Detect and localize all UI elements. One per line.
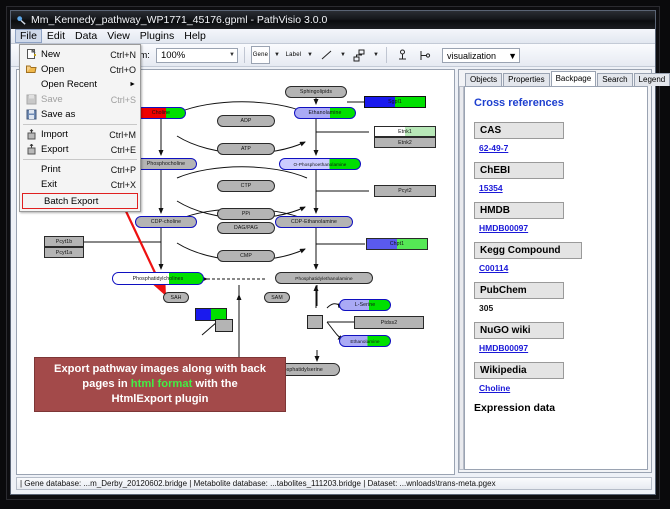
menu-item-exit[interactable]: Exit Ctrl+X <box>20 177 140 192</box>
menu-item-new[interactable]: New Ctrl+N <box>20 47 140 62</box>
annotation-line-2a: pages in <box>82 378 131 390</box>
annotation-highlight: html format <box>131 378 193 390</box>
pathvisio-icon <box>16 15 27 26</box>
menu-item-print-accel: Ctrl+P <box>111 165 136 175</box>
menu-view[interactable]: View <box>102 29 135 43</box>
annotation-line-2b: with the <box>192 378 237 390</box>
xref-value-kegg[interactable]: C00114 <box>479 263 638 273</box>
menu-item-import-label: Import <box>41 129 103 140</box>
blank-icon-2 <box>24 164 38 176</box>
gene-pcyt1a[interactable]: Pcyt1a <box>44 247 84 258</box>
node-ethanolamine[interactable]: Ethanolamine <box>294 107 356 119</box>
backpage-content: Cross references CAS 62-49-7 ChEBI 15354… <box>464 86 648 470</box>
gene-etnk2[interactable]: Etnk2 <box>374 137 436 148</box>
gene-product-tool-icon[interactable]: Gene <box>251 46 270 64</box>
node-dag-pag[interactable]: DAG/PAG <box>217 222 275 234</box>
menu-item-save: Save Ctrl+S <box>20 92 140 107</box>
application-window: Mm_Kennedy_pathway_WP1771_45176.gpml - P… <box>10 10 656 495</box>
visualization-combo[interactable]: visualization ▼ <box>442 48 520 63</box>
align-top-icon[interactable] <box>393 46 412 64</box>
xref-value-pubchem: 305 <box>479 303 638 313</box>
line-tool-icon[interactable] <box>317 46 336 64</box>
side-panel-tabs: Objects Properties Backpage Search Legen… <box>465 72 651 86</box>
new-file-icon <box>24 49 38 61</box>
line-tool-dropdown-icon[interactable]: ▼ <box>339 52 347 58</box>
toolbar-separator-2 <box>386 47 387 63</box>
menu-separator-2 <box>23 159 137 160</box>
shape-tool-dropdown-icon[interactable]: ▼ <box>372 52 380 58</box>
gene-box-unlabeled-2[interactable] <box>215 319 233 332</box>
xref-value-wikipedia[interactable]: Choline <box>479 383 638 393</box>
xref-header-kegg: Kegg Compound <box>474 242 582 259</box>
open-folder-icon <box>24 64 38 76</box>
blank-icon-4 <box>27 195 41 207</box>
menu-edit[interactable]: Edit <box>42 29 70 43</box>
annotation-callout: Export pathway images along with back pa… <box>34 357 286 412</box>
blank-icon-3 <box>24 179 38 191</box>
annotation-line-1: Export pathway images along with back <box>54 362 266 377</box>
menu-item-save-as-label: Save as <box>41 109 130 120</box>
gene-tool-label: Gene <box>253 52 268 58</box>
save-as-icon <box>24 109 38 121</box>
status-text: | Gene database: ...m_Derby_20120602.bri… <box>20 479 496 488</box>
menu-item-open[interactable]: Open Ctrl+O <box>20 62 140 77</box>
xref-header-pubchem: PubChem <box>474 282 564 299</box>
menu-item-exit-label: Exit <box>41 179 105 190</box>
expression-data-heading: Expression data <box>474 402 638 414</box>
xref-header-hmdb: HMDB <box>474 202 564 219</box>
menu-item-save-accel: Ctrl+S <box>111 95 136 105</box>
menu-item-export-accel: Ctrl+E <box>111 145 136 155</box>
import-icon <box>24 129 38 141</box>
window-title: Mm_Kennedy_pathway_WP1771_45176.gpml - P… <box>31 14 327 26</box>
tab-objects[interactable]: Objects <box>465 73 502 86</box>
node-choline[interactable]: Choline <box>136 107 186 119</box>
node-cmp[interactable]: CMP <box>217 250 275 262</box>
node-ppi[interactable]: PPi <box>217 208 275 220</box>
xref-value-nugo[interactable]: HMDB00097 <box>479 343 638 353</box>
node-l-serine[interactable]: L-Serine <box>339 299 391 311</box>
xref-value-hmdb[interactable]: HMDB00097 <box>479 223 638 233</box>
node-sam[interactable]: SAM <box>264 292 290 303</box>
node-phosphocholine[interactable]: Phosphocholine <box>135 158 197 170</box>
gene-etnk1[interactable]: Etnk1 <box>374 126 436 137</box>
outer-frame: Mm_Kennedy_pathway_WP1771_45176.gpml - P… <box>0 0 670 509</box>
node-sah[interactable]: SAH <box>163 292 189 303</box>
node-cdp-ethanolamine[interactable]: CDP-Ethanolamine <box>275 216 353 228</box>
menu-item-open-recent[interactable]: Open Recent ► <box>20 77 140 92</box>
menu-item-print[interactable]: Print Ctrl+P <box>20 162 140 177</box>
cross-references-heading: Cross references <box>474 97 638 109</box>
node-cdp-choline[interactable]: CDP-choline <box>135 216 197 228</box>
gene-pcyt1b[interactable]: Pcyt1b <box>44 236 84 247</box>
submenu-arrow-icon: ► <box>129 81 136 88</box>
xref-header-nugo: NuGO wiki <box>474 322 564 339</box>
gene-pcyt2[interactable]: Pcyt2 <box>374 185 436 197</box>
export-icon <box>24 144 38 156</box>
menu-help[interactable]: Help <box>179 29 211 43</box>
tab-legend[interactable]: Legend <box>634 73 670 86</box>
menu-file[interactable]: File <box>15 29 42 43</box>
menu-item-export-label: Export <box>41 144 105 155</box>
menu-plugins[interactable]: Plugins <box>135 29 179 43</box>
visualization-value: visualization <box>447 51 496 61</box>
node-phosphatidylcholines[interactable]: Phosphatidylcholines <box>112 272 204 285</box>
gene-box-unlabeled-3[interactable] <box>307 315 323 329</box>
menu-item-exit-accel: Ctrl+X <box>111 180 136 190</box>
menu-data[interactable]: Data <box>70 29 102 43</box>
file-menu-popup: New Ctrl+N Open Ctrl+O Open Recent ► Sav… <box>19 44 141 212</box>
shape-tool-icon[interactable] <box>350 46 369 64</box>
tab-properties[interactable]: Properties <box>503 73 549 86</box>
node-o-phosphoethanolamine[interactable]: O-Phosphoethanolamine <box>279 158 361 170</box>
label-tool-icon[interactable]: Label <box>284 46 303 64</box>
node-sphingolipids[interactable]: Sphingolipids <box>285 86 347 98</box>
xref-value-cas[interactable]: 62-49-7 <box>479 143 638 153</box>
title-bar: Mm_Kennedy_pathway_WP1771_45176.gpml - P… <box>11 11 655 29</box>
save-disk-icon <box>24 94 38 106</box>
align-left-icon[interactable] <box>415 46 434 64</box>
gene-sgpl1[interactable]: Sgpl1 <box>364 96 426 108</box>
menu-item-save-as[interactable]: Save as <box>20 107 140 122</box>
toolbar-separator <box>244 47 245 63</box>
xref-header-wikipedia: Wikipedia <box>474 362 564 379</box>
node-phosphatidylethanolamine[interactable]: Phosphatidylethanolamine <box>275 272 373 284</box>
gene-tool-dropdown-icon[interactable]: ▼ <box>273 52 281 58</box>
menu-item-import-accel: Ctrl+M <box>109 130 136 140</box>
menu-item-new-accel: Ctrl+N <box>110 50 136 60</box>
node-adp[interactable]: ADP <box>217 115 275 127</box>
menu-item-print-label: Print <box>41 164 105 175</box>
status-bar: | Gene database: ...m_Derby_20120602.bri… <box>16 477 652 490</box>
menu-item-open-accel: Ctrl+O <box>110 65 136 75</box>
annotation-line-3: HtmlExport plugin <box>112 392 209 407</box>
annotation-line-2: pages in html format with the <box>82 377 237 392</box>
menu-separator-1 <box>23 124 137 125</box>
xref-value-chebi[interactable]: 15354 <box>479 183 638 193</box>
tab-search[interactable]: Search <box>597 73 632 86</box>
zoom-value: 100% <box>161 50 185 61</box>
xref-header-chebi: ChEBI <box>474 162 564 179</box>
zoom-combo[interactable]: 100% ▼ <box>156 48 238 63</box>
menu-item-new-label: New <box>41 49 104 60</box>
menu-item-save-label: Save <box>41 94 105 105</box>
label-tool-label: Label <box>286 52 302 58</box>
blank-icon <box>24 79 38 91</box>
xref-header-cas: CAS <box>474 122 564 139</box>
menu-item-export[interactable]: Export Ctrl+E <box>20 142 140 157</box>
chevron-down-icon: ▼ <box>229 52 235 58</box>
node-ethanolamine-2[interactable]: Ethanolamine <box>339 335 391 347</box>
menu-bar: File Edit Data View Plugins Help <box>11 29 655 44</box>
menu-item-batch-export-label: Batch Export <box>44 196 133 207</box>
menu-item-open-label: Open <box>41 64 104 75</box>
gene-ptdss2[interactable]: Ptdss2 <box>354 316 424 329</box>
tab-backpage[interactable]: Backpage <box>551 71 597 86</box>
node-atp[interactable]: ATP <box>217 143 275 155</box>
menu-item-import[interactable]: Import Ctrl+M <box>20 127 140 142</box>
gene-chpt1[interactable]: Chpt1 <box>366 238 428 250</box>
label-tool-dropdown-icon[interactable]: ▼ <box>306 52 314 58</box>
menu-item-open-recent-label: Open Recent <box>41 79 129 90</box>
menu-item-batch-export[interactable]: Batch Export <box>22 193 138 209</box>
side-panel: Objects Properties Backpage Search Legen… <box>458 69 652 473</box>
node-ctp[interactable]: CTP <box>217 180 275 192</box>
chevron-down-icon-2: ▼ <box>508 51 517 61</box>
